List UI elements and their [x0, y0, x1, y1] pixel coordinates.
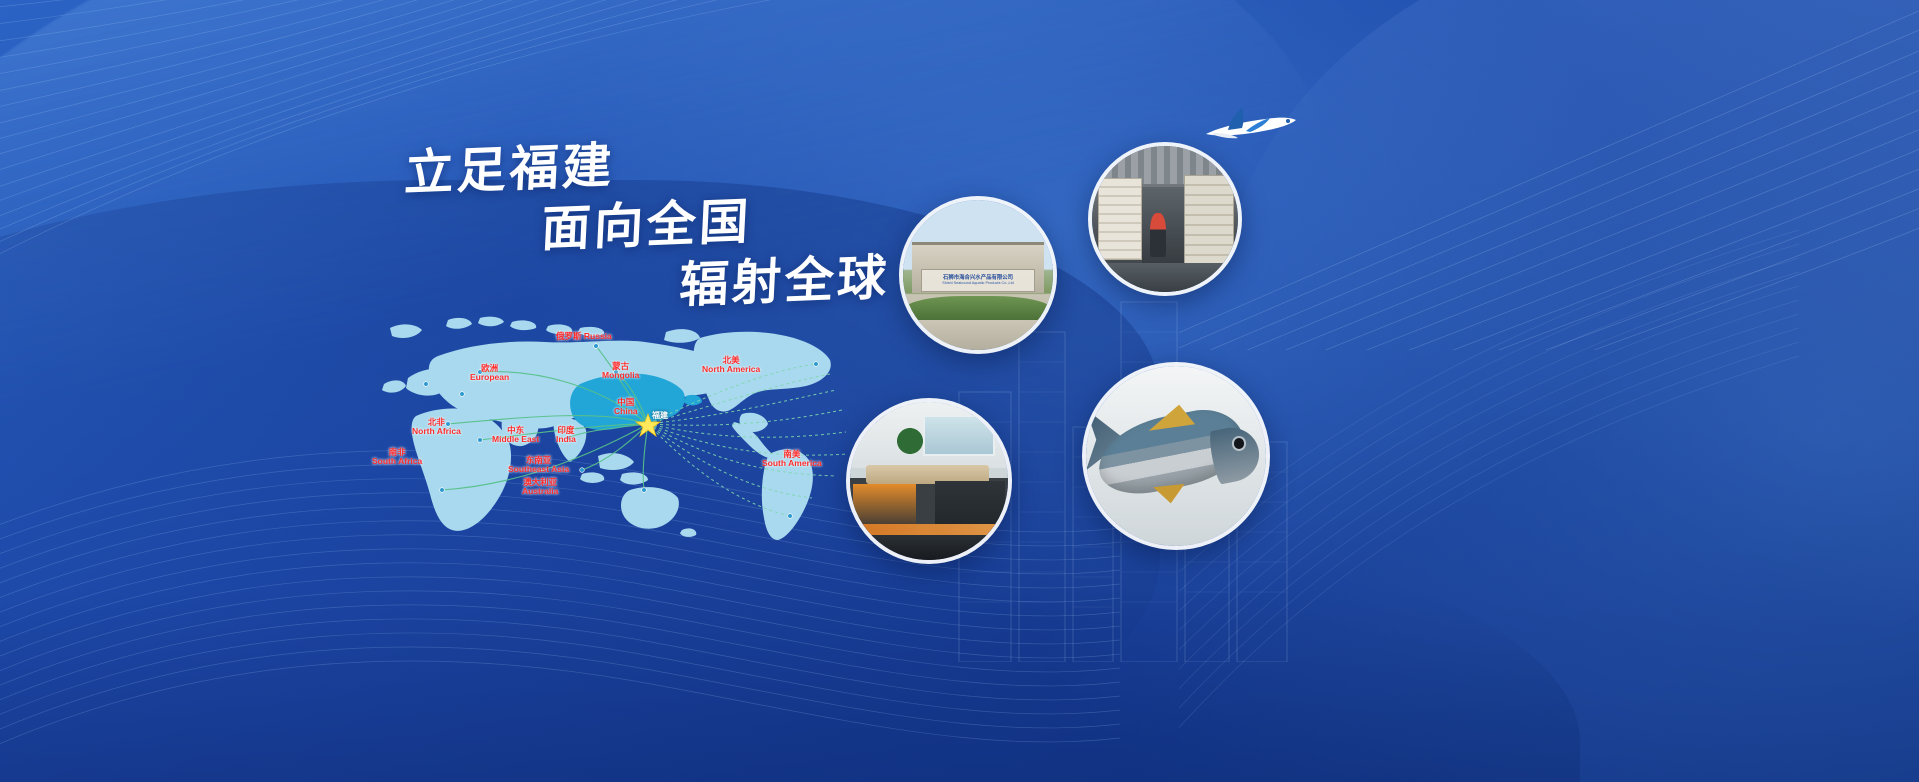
slogan-group: 立足福建 面向全国 辐射全球 [0, 0, 1919, 782]
tuna-head [1207, 423, 1263, 485]
cold-storage-photo [1088, 142, 1242, 296]
factory-entrance-photo: 石狮市海合兴水产品有限公司 Shishi Seabound Aquatic Pr… [899, 196, 1057, 354]
tuna-eye [1234, 438, 1245, 449]
tuna-fish-photo [1082, 362, 1270, 550]
office-interior-photo [846, 398, 1012, 564]
office-window [923, 415, 996, 456]
office-accent-stripe [850, 524, 1008, 535]
storage-floor [1092, 263, 1238, 292]
office-floor [850, 535, 1008, 560]
factory-hedge [903, 296, 1053, 320]
storage-worker [1150, 213, 1166, 257]
storage-boxes-right [1184, 175, 1234, 266]
world-distribution-map: 俄罗斯 Russia 蒙古 Mongolia 中国 China 欧洲 Europ… [330, 298, 860, 548]
hero-banner: 立足福建 面向全国 辐射全球 [0, 0, 1919, 782]
factory-ground [903, 317, 1053, 350]
storage-boxes-left [1098, 178, 1142, 260]
office-plant [897, 427, 922, 462]
company-sign: 石狮市海合兴水产品有限公司 Shishi Seabound Aquatic Pr… [921, 269, 1035, 292]
